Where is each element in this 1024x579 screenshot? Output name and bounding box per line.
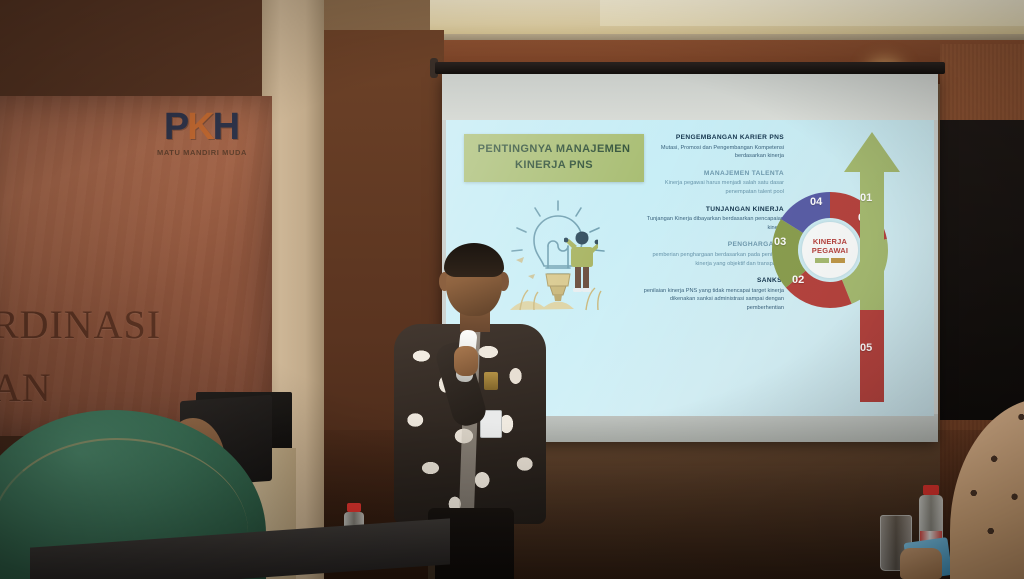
slide-block-heading: SANKSI — [638, 277, 784, 284]
bottle-cap-left — [347, 503, 361, 512]
slide-title-line-1: PENTINGNYA MANAJEMEN — [478, 142, 631, 158]
donut-segment-number: 02 — [792, 274, 804, 286]
upward-arrow-graphic: 01 05 — [840, 130, 904, 406]
slide-block-heading: TUNJANGAN KINERJA — [638, 206, 784, 213]
arrow-upper-number: 01 — [860, 192, 872, 204]
screen-mount-bar — [435, 62, 945, 74]
arrow-lower-number: 05 — [860, 342, 872, 354]
presenter-lapel-pin — [484, 372, 498, 390]
slide-block: MANAJEMEN TALENTA Kinerja pegawai harus … — [638, 170, 784, 197]
slide-block: TUNJANGAN KINERJA Tunjangan Kinerja diba… — [638, 206, 784, 233]
slide-person-illustration — [564, 230, 598, 292]
slide-block-heading: MANAJEMEN TALENTA — [638, 170, 784, 177]
bottle-cap-right — [923, 485, 939, 495]
slide-block-body: Mutasi, Promosi dan Pengembangan Kompete… — [638, 144, 784, 161]
slide-block-heading: PENGHARGAAN — [638, 241, 784, 248]
pkh-logo: PKH — [146, 110, 256, 144]
ceiling-cove-upper — [600, 0, 1024, 26]
screen-blank-top — [442, 74, 938, 120]
slide-block: PENGHARGAAN pemberian penghargaan berdas… — [638, 241, 784, 268]
dark-monitor-right — [940, 120, 1024, 420]
event-banner: PKH MATU MANDIRI MUDA ORDINASI DAN T.A 2… — [0, 96, 272, 436]
slide-block-body: Tunjangan Kinerja dibayarkan berdasarkan… — [638, 215, 784, 232]
pkh-logo-tagline: MATU MANDIRI MUDA — [142, 148, 262, 157]
slide-text-column: PENGEMBANGAN KARIER PNS Mutasi, Promosi … — [638, 134, 784, 322]
banner-line-2: DAN — [0, 364, 52, 411]
slide-block: SANKSI penilaian kinerja PNS yang tidak … — [638, 277, 784, 312]
banner-line-1: ORDINASI — [0, 301, 161, 348]
slide-block-body: pemberian penghargaan berdasarkan pada p… — [638, 251, 784, 268]
presenter-hair — [444, 243, 504, 277]
slide-block-body: Kinerja pegawai harus menjadi salah satu… — [638, 179, 784, 196]
donut-segment-number: 03 — [774, 236, 786, 248]
photo-scene: PKH MATU MANDIRI MUDA ORDINASI DAN T.A 2… — [0, 0, 1024, 579]
presenter-hand — [454, 346, 478, 376]
slide-title-box: PENTINGNYA MANAJEMEN KINERJA PNS — [464, 134, 644, 182]
slide-block-heading: PENGEMBANGAN KARIER PNS — [638, 134, 784, 141]
slide-block-body: penilaian kinerja PNS yang tidak mencapa… — [638, 287, 784, 313]
slide-title-line-2: KINERJA PNS — [515, 158, 593, 174]
slide-block: PENGEMBANGAN KARIER PNS Mutasi, Promosi … — [638, 134, 784, 161]
donut-segment-number: 04 — [810, 196, 822, 208]
audience-hand-right — [900, 548, 942, 579]
